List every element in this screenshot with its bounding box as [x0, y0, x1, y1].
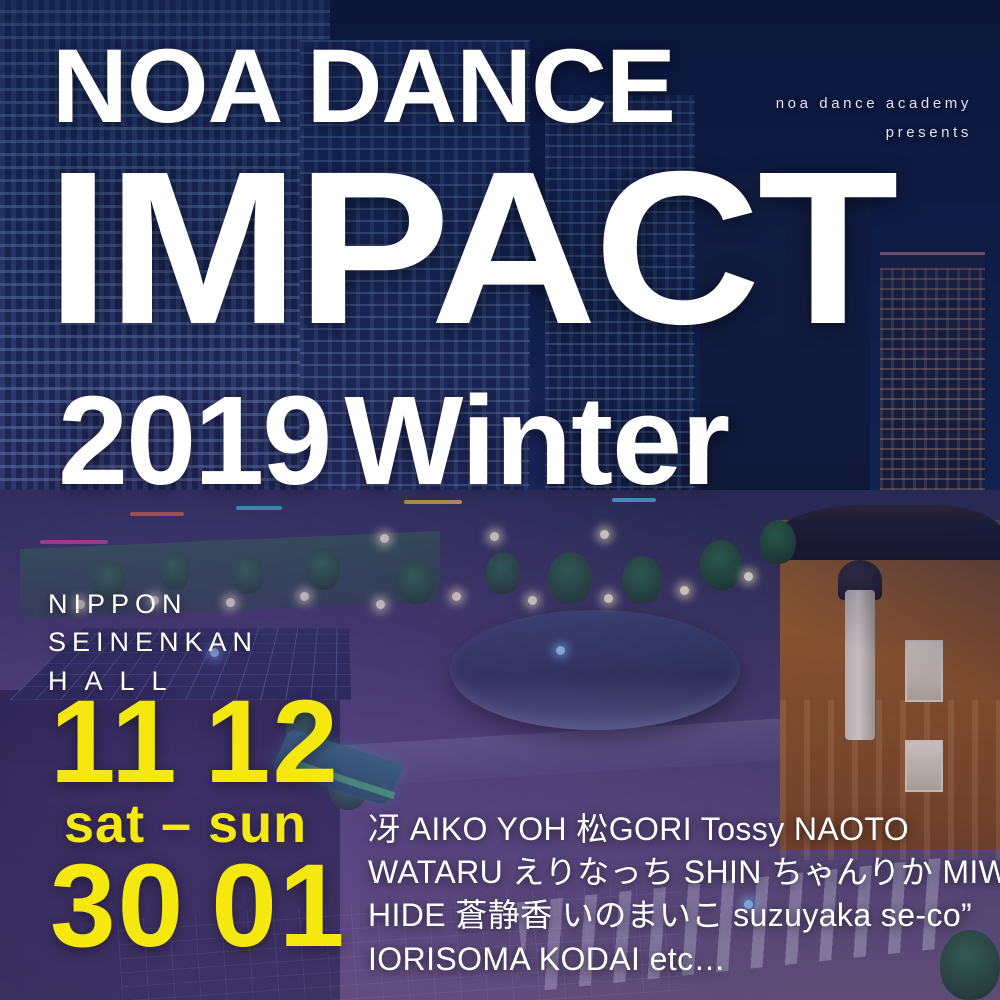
venue-line-2: SEINENKAN [48, 623, 258, 661]
title-noa-dance: NOA DANCE [52, 34, 675, 139]
title-impact: IMPACT [46, 140, 896, 358]
venue-line-1: NIPPON [48, 585, 258, 623]
title-season: Winter [344, 370, 729, 511]
title-year-season: 2019Winter [58, 378, 729, 504]
presents-line-academy: noa dance academy [776, 90, 972, 119]
poster-text-layer: NOA DANCE noa dance academy presents IMP… [0, 0, 1000, 1000]
lineup-block: 冴 AIKO YOH 松GORI Tossy NAOTO WATARU えりなっ… [368, 808, 996, 981]
date-month-end: 12 [205, 676, 340, 808]
poster-canvas: NOA DANCE noa dance academy presents IMP… [0, 0, 1000, 1000]
date-days-row: 3001 [50, 852, 347, 961]
title-year: 2019 [58, 370, 330, 511]
lineup-line-2: WATARU えりなっち SHIN ちゃんりか MIWA [368, 851, 996, 894]
date-day-start: 30 [50, 840, 185, 972]
date-block: 1112 sat–sun 3001 [50, 688, 347, 960]
date-day-end: 01 [211, 840, 346, 972]
lineup-line-3: HIDE 蒼静香 いのまいこ suzuyaka se-co” [368, 894, 996, 937]
lineup-line-1: 冴 AIKO YOH 松GORI Tossy NAOTO [368, 808, 996, 851]
date-months-row: 1112 [50, 688, 347, 797]
date-month-start: 11 [50, 676, 179, 808]
lineup-line-4: IORISOMA KODAI etc… [368, 938, 996, 981]
